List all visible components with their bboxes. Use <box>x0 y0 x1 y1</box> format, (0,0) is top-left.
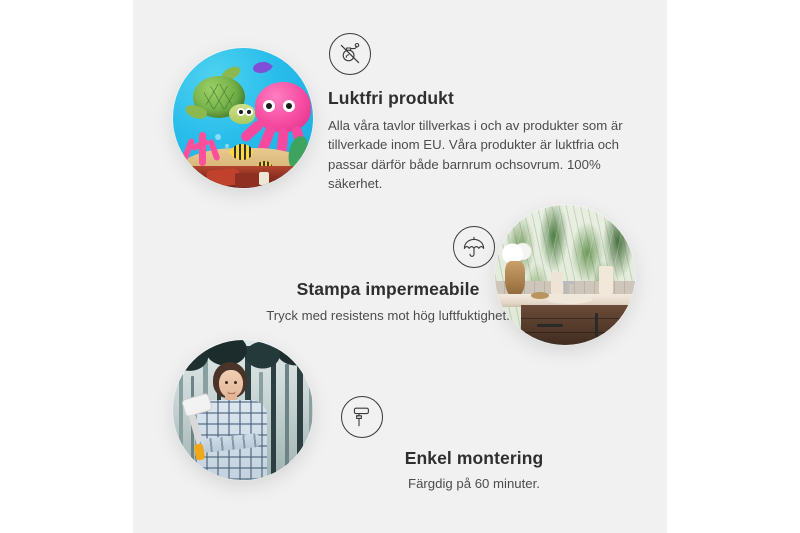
shipwreck-part <box>259 172 269 185</box>
woman-eye <box>225 381 228 384</box>
painter-scene <box>173 340 313 480</box>
feature-description: Alla våra tavlor tillverkas i och av pro… <box>328 116 623 194</box>
faucet <box>565 281 569 295</box>
octopus-eye <box>263 100 275 112</box>
infographic-panel: Luktfri produkt Alla våra tavlor tillver… <box>133 0 667 533</box>
photo-underwater[interactable] <box>173 48 313 188</box>
feature-description: Tryck med resistens mot hög luftfuktighe… <box>213 306 563 325</box>
octopus-eye <box>283 100 295 112</box>
feature-easy-install: Enkel montering Färgdig på 60 minuter. <box>329 396 619 493</box>
turtle-head <box>229 104 255 124</box>
photo-painter[interactable] <box>173 340 313 480</box>
feature-odourless: Luktfri produkt Alla våra tavlor tillver… <box>328 33 628 194</box>
underwater-scene <box>173 48 313 188</box>
pink-coral <box>181 126 225 166</box>
feature-waterproof: Stampa impermeabile Tryck med resistens … <box>213 226 563 325</box>
bathroom-bottle <box>599 266 613 294</box>
feature-title: Enkel montering <box>329 448 619 469</box>
icon-row <box>329 396 619 438</box>
door-handle <box>595 313 598 337</box>
turtle-eye <box>245 108 253 116</box>
feature-description: Färgdig på 60 minuter. <box>329 474 619 493</box>
feature-title: Stampa impermeabile <box>213 279 563 300</box>
umbrella-icon <box>453 226 495 268</box>
woman-eye <box>234 381 237 384</box>
feature-title: Luktfri produkt <box>328 88 628 109</box>
icon-row <box>213 226 563 268</box>
shipwreck-part <box>235 173 261 187</box>
yellow-fish-icon <box>231 144 253 160</box>
no-fragrance-icon <box>329 33 371 75</box>
turtle-eye <box>237 108 245 116</box>
paint-roller-icon <box>341 396 383 438</box>
